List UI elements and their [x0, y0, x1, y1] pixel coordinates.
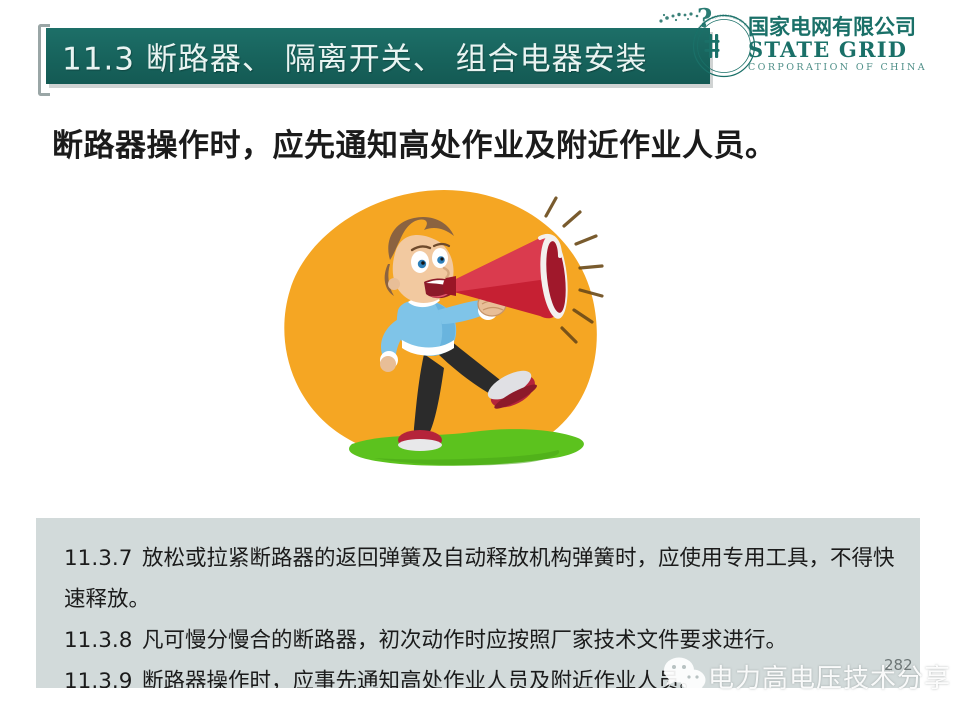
regulation-notes-list: 11.3.7放松或拉紧断路器的返回弹簧及自动释放机构弹簧时，应使用专用工具，不得…	[64, 538, 904, 688]
page-number: 282	[884, 656, 913, 674]
svg-text:STATE GRID CORPORATION OF CHIN: STATE GRID CORPORATION OF CHINA	[694, 14, 753, 36]
regulation-notes-box: 11.3.7放松或拉紧断路器的返回弹簧及自动释放机构弹簧时，应使用专用工具，不得…	[36, 518, 920, 688]
list-item: 11.3.8凡可慢分慢合的断路器，初次动作时应按照厂家技术文件要求进行。	[64, 620, 904, 661]
section-title-text: 11.3 断路器、 隔离开关、 组合电器安装	[62, 34, 648, 79]
state-grid-name-cn: 国家电网有限公司	[748, 16, 956, 38]
slide-header: 11.3 断路器、 隔离开关、 组合电器安装 ?	[0, 0, 960, 100]
state-grid-logo-text: 国家电网有限公司 STATE GRID CORPORATION OF CHINA	[748, 16, 956, 74]
state-grid-name-en: STATE GRID	[748, 39, 956, 61]
slide-canvas: 11.3 断路器、 隔离开关、 组合电器安装 ?	[0, 0, 960, 720]
section-title-banner: 11.3 断路器、 隔离开关、 组合电器安装	[46, 28, 710, 84]
note-number: 11.3.9	[64, 661, 142, 688]
note-number: 11.3.8	[64, 620, 142, 661]
state-grid-logo: STATE GRID CORPORATION OF CHINA 国家电网有限公司…	[688, 8, 956, 90]
note-number: 11.3.7	[64, 538, 142, 579]
note-text: 凡可慢分慢合的断路器，初次动作时应按照厂家技术文件要求进行。	[142, 628, 787, 653]
note-text: 放松或拉紧断路器的返回弹簧及自动释放机构弹簧时，应使用专用工具，不得快速释放。	[64, 546, 895, 612]
list-item: 11.3.7放松或拉紧断路器的返回弹簧及自动释放机构弹簧时，应使用专用工具，不得…	[64, 538, 904, 620]
page-title: 断路器操作时，应先通知高处作业及附近作业人员。	[52, 120, 912, 165]
state-grid-subtitle-en: CORPORATION OF CHINA	[748, 63, 956, 73]
list-item: 11.3.9断路器操作时，应事先通知高处作业人员及附近作业人员。	[64, 661, 904, 688]
note-text: 断路器操作时，应事先通知高处作业人员及附近作业人员。	[142, 669, 701, 688]
boy-with-megaphone-illustration	[248, 182, 638, 502]
